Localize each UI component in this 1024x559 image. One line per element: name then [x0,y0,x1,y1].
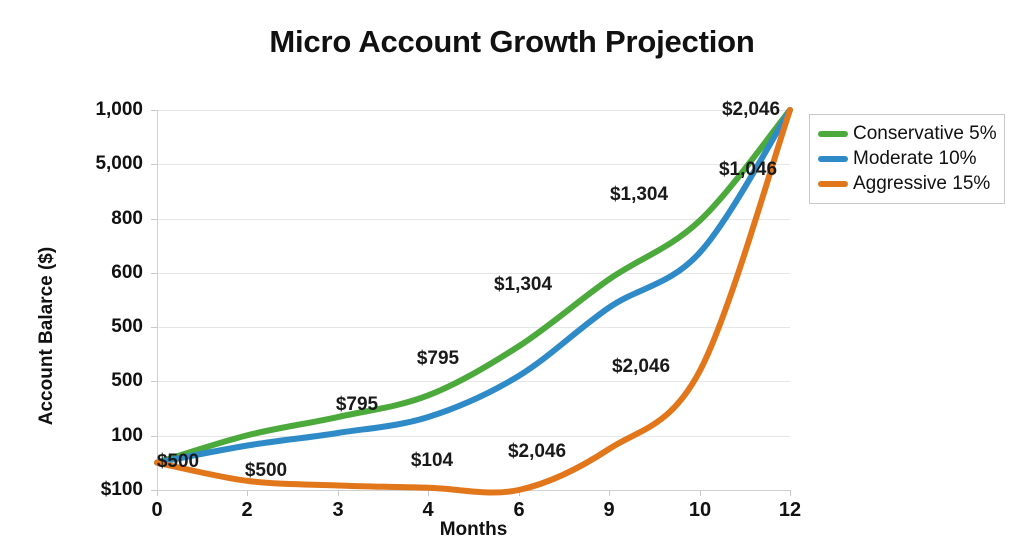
y-tick-label: $100 [23,479,143,501]
legend-label: Moderate 10% [853,148,977,170]
legend-label: Aggressive 15% [853,173,990,195]
legend-color-swatch [818,131,848,137]
chart-title: Micro Account Growth Projection [0,24,1024,60]
y-tick-label: 800 [23,208,143,230]
data-label: $2,046 [612,356,670,378]
data-label: $1,304 [610,184,668,206]
x-tick-label: 2 [217,499,277,522]
plot-area [157,110,790,490]
data-label: $104 [411,450,453,472]
chart-screenshot: Micro Account Growth Projection Account … [0,0,1024,559]
x-tick-label: 0 [127,499,187,522]
data-label: $795 [336,394,378,416]
x-tick-label: 6 [489,499,549,522]
data-label: $1,046 [719,159,777,181]
x-tick-label: 9 [579,499,639,522]
data-label: $1,304 [494,274,552,296]
x-tick-label: 10 [670,499,730,522]
legend-item-2[interactable]: Moderate 10% [818,146,996,171]
series-line-2 [157,110,790,463]
x-axis-title: Months [157,519,790,541]
chart-legend: Conservative 5%Moderate 10%Aggressive 15… [809,114,1005,204]
x-tick-label: 3 [308,499,368,522]
x-tick-label: 4 [398,499,458,522]
data-label: $2,046 [508,441,566,463]
y-tick-label: 600 [23,262,143,284]
legend-color-swatch [818,181,848,187]
legend-item-1[interactable]: Conservative 5% [818,121,996,146]
data-label: $2,046 [722,99,780,121]
y-tick-label: 5,000 [23,153,143,175]
data-label: $795 [417,348,459,370]
y-tick-label: 500 [23,370,143,392]
data-label: $500 [245,460,287,482]
y-tick-label: 500 [23,316,143,338]
legend-label: Conservative 5% [853,123,997,145]
y-tick-label: 100 [23,425,143,447]
x-tick-mark [790,490,791,496]
series-lines [157,110,790,490]
x-tick-label: 12 [760,499,820,522]
data-label: $500 [157,451,199,473]
legend-item-3[interactable]: Aggressive 15% [818,171,996,196]
y-tick-label: 1,000 [23,99,143,121]
legend-color-swatch [818,156,848,162]
series-line-1 [157,110,790,463]
